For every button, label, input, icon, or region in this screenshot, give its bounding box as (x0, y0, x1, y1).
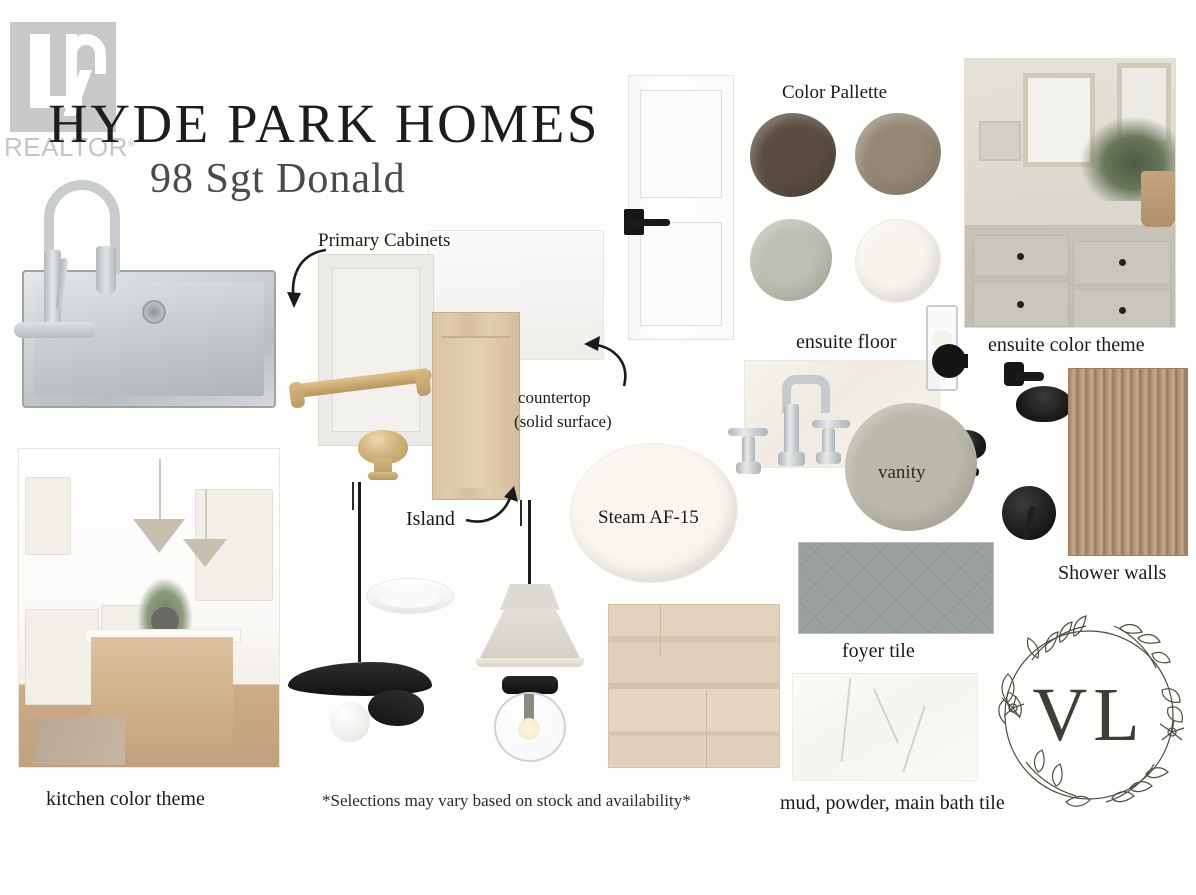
shower-walls-label: Shower walls (1058, 562, 1166, 585)
bath-tile-sample (792, 673, 978, 781)
palette-swatch-dark-brown (750, 113, 836, 197)
bath-tile-label: mud, powder, main bath tile (780, 792, 1005, 815)
brass-knob-base (368, 472, 398, 480)
mood-board: REALTOR® HYDE PARK HOMES 98 Sgt Donald (0, 0, 1196, 895)
faucet-right-base (816, 452, 841, 464)
sink-inner (34, 282, 264, 396)
divider-tick (520, 500, 522, 526)
cone-pendant-shade (478, 608, 582, 662)
door-lever-handle (626, 219, 670, 226)
pendant-petal-shade (288, 662, 432, 696)
pendant-globe-bulb (330, 702, 370, 742)
vl-logo: VL (986, 612, 1192, 818)
cone-pendant-lip (476, 658, 584, 667)
pendant-petal-wing (368, 690, 424, 726)
wood-flooring-sample (608, 604, 780, 768)
wood-plank-seam (706, 690, 707, 768)
faucet-left-base (736, 462, 761, 474)
faucet-spout-column (784, 404, 799, 458)
wood-plank-seam (660, 604, 661, 656)
faucet-deck-plate (14, 322, 96, 338)
flush-mount-bulb (518, 718, 540, 740)
cone-pendant-rod (528, 500, 531, 586)
ensuite-color-theme-photo (964, 58, 1176, 328)
page-title: HYDE PARK HOMES (48, 92, 608, 155)
island-oak-door-panel (442, 336, 510, 488)
color-palette-label: Color Pallette (782, 82, 887, 104)
disclaimer-text: *Selections may vary based on stock and … (322, 791, 691, 811)
faucet-spout-base (778, 452, 805, 466)
cone-pendant-top (500, 584, 560, 610)
foyer-tile-label: foyer tile (842, 640, 915, 663)
primary-cabinet-door-panel (332, 268, 420, 432)
shower-head-icon (1016, 386, 1072, 422)
kitchen-color-theme-photo (18, 448, 280, 768)
palette-swatch-sage-gray (750, 219, 832, 301)
ensuite-color-theme-label: ensuite color theme (988, 334, 1145, 357)
steam-paint-label: Steam AF-15 (598, 507, 699, 529)
ensuite-floor-label: ensuite floor (796, 331, 897, 354)
door-upper-panel (640, 90, 722, 198)
sconce-arm (950, 354, 968, 368)
faucet-left-lever (728, 428, 768, 436)
door-lower-panel (640, 222, 722, 326)
faucet-right-lever (812, 420, 850, 428)
faucet-sprayhead (96, 246, 116, 294)
shower-arm (1014, 372, 1044, 381)
island-label: Island (406, 508, 455, 531)
vanity-paint-label: vanity (878, 462, 926, 484)
page-subtitle: 98 Sgt Donald (150, 155, 570, 203)
foyer-tile-sample (798, 542, 994, 634)
primary-cabinets-label: Primary Cabinets (318, 230, 450, 252)
countertop-label-line1: countertop (518, 388, 591, 408)
divider-tick (352, 482, 354, 510)
vl-monogram: VL (986, 612, 1192, 818)
kitchen-color-theme-label: kitchen color theme (46, 788, 205, 811)
palette-swatch-off-white (855, 219, 941, 303)
pendant-rod (358, 482, 361, 662)
disc-light-diffuser (380, 588, 440, 608)
shower-wall-slat-panel-sample (1068, 368, 1188, 556)
palette-swatch-warm-taupe (855, 113, 941, 195)
sink-drain-icon (142, 300, 166, 324)
countertop-label-line2: (solid surface) (514, 412, 612, 432)
